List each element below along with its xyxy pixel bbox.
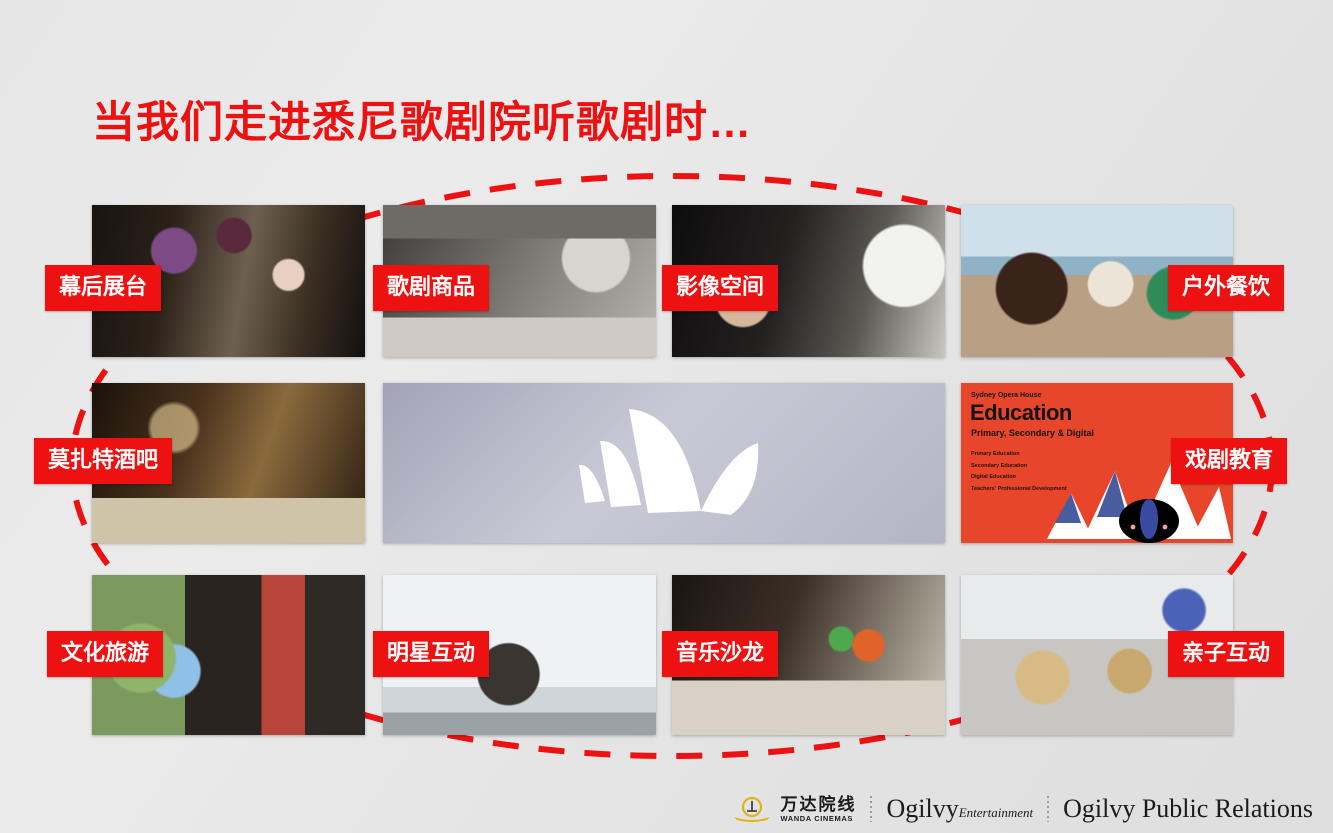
education-heading: Education [970, 400, 1072, 426]
wanda-emblem-icon [731, 796, 773, 822]
label-family: 亲子互动 [1168, 631, 1284, 677]
label-tourism: 文化旅游 [47, 631, 163, 677]
wanda-name-cn: 万达院线 [780, 796, 856, 813]
wanda-cinemas-logo: 万达院线 WANDA CINEMAS [731, 796, 856, 823]
footer-logo-bar: 万达院线 WANDA CINEMAS OgilvyEntertainment O… [0, 785, 1333, 833]
footer-divider [1047, 796, 1049, 822]
education-eyebrow: Sydney Opera House [971, 392, 1041, 399]
page-title: 当我们走进悉尼歌剧院听歌剧时… [92, 88, 752, 150]
label-star: 明星互动 [373, 631, 489, 677]
label-merchandise: 歌剧商品 [373, 265, 489, 311]
wanda-wordmark: 万达院线 WANDA CINEMAS [780, 796, 856, 823]
wanda-name-en: WANDA CINEMAS [780, 815, 856, 823]
label-education: 戏剧教育 [1171, 438, 1287, 484]
label-dining: 户外餐饮 [1168, 265, 1284, 311]
label-salon: 音乐沙龙 [662, 631, 778, 677]
slide-canvas: 当我们走进悉尼歌剧院听歌剧时… 幕后展台 歌剧商品 影像空间 户外餐饮 莫扎特酒… [0, 0, 1333, 833]
footer-divider [870, 796, 872, 822]
ogilvy-sub-wordmark: Entertainment [959, 805, 1033, 820]
tile-grid: 幕后展台 歌剧商品 影像空间 户外餐饮 莫扎特酒吧 [92, 205, 1233, 735]
label-digital: 影像空间 [662, 265, 778, 311]
ogilvy-public-relations-logo: Ogilvy Public Relations [1063, 794, 1313, 824]
ogilvy-wordmark: Ogilvy [886, 794, 958, 823]
tile-opera-house-logo[interactable] [383, 383, 945, 543]
label-backstage: 幕后展台 [45, 265, 161, 311]
label-bar: 莫扎特酒吧 [34, 438, 172, 484]
ogilvy-entertainment-logo: OgilvyEntertainment [886, 794, 1033, 824]
sydney-opera-house-sails-logo [383, 383, 945, 543]
